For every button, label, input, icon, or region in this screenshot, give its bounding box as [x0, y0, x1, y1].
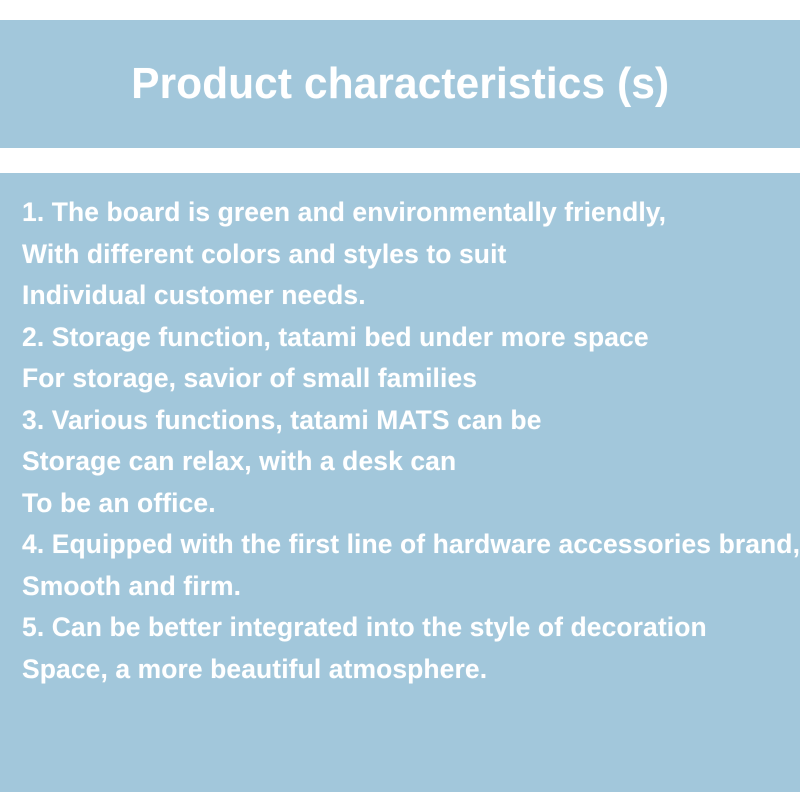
list-item: For storage, savior of small families [22, 358, 777, 400]
list-item: 3. Various functions, tatami MATS can be [22, 400, 777, 442]
list-item: With different colors and styles to suit [22, 234, 777, 276]
list-item: 4. Equipped with the first line of hardw… [22, 524, 777, 566]
list-item: Smooth and firm. [22, 566, 777, 608]
product-characteristics-page: Product characteristics (s) 1. The board… [0, 0, 800, 792]
list-item: 5. Can be better integrated into the sty… [22, 607, 777, 649]
feature-list: 1. The board is green and environmentall… [22, 192, 792, 690]
list-item: Storage can relax, with a desk can [22, 441, 777, 483]
header-banner: Product characteristics (s) [0, 20, 800, 148]
list-item: Individual customer needs. [22, 275, 777, 317]
banner-separator [0, 148, 800, 173]
list-item: Space, a more beautiful atmosphere. [22, 649, 777, 691]
list-item: 1. The board is green and environmentall… [22, 192, 777, 234]
list-item: 2. Storage function, tatami bed under mo… [22, 317, 777, 359]
page-title: Product characteristics (s) [131, 62, 669, 106]
features-panel: 1. The board is green and environmentall… [0, 173, 800, 792]
list-item: To be an office. [22, 483, 777, 525]
